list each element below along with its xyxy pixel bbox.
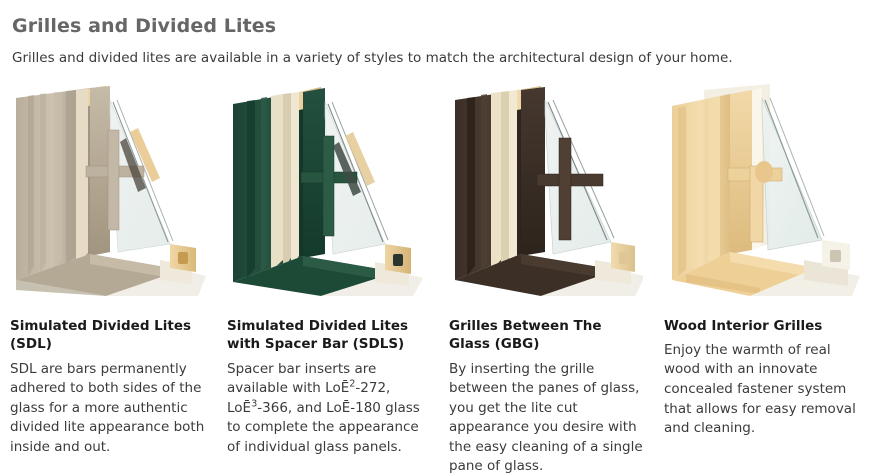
card-title-sdls: Simulated Divided Lites with Spacer Bar … — [227, 318, 427, 354]
card-body-wood-interior: Enjoy the warmth of real wood with an in… — [664, 341, 864, 439]
page-title: Grilles and Divided Lites — [12, 15, 276, 37]
product-card-gbg[interactable]: Grilles Between The Glass (GBG) By inser… — [449, 84, 643, 474]
window-corner-cutaway-brown-icon — [449, 84, 643, 296]
page-intro-text: Grilles and divided lites are available … — [12, 50, 733, 66]
window-corner-cutaway-green-image — [227, 84, 427, 296]
card-title-sdl: Simulated Divided Lites (SDL) — [10, 318, 210, 354]
card-body-sdls: Spacer bar inserts are available with Lo… — [227, 360, 427, 458]
window-corner-cutaway-beige-image — [10, 84, 210, 296]
window-corner-cutaway-green-icon — [227, 84, 427, 296]
window-corner-cutaway-beige-icon — [10, 84, 210, 296]
product-card-sdls[interactable]: Simulated Divided Lites with Spacer Bar … — [227, 84, 427, 457]
window-corner-cutaway-brown-image — [449, 84, 643, 296]
product-card-sdl[interactable]: Simulated Divided Lites (SDL) SDL are ba… — [10, 84, 210, 457]
card-body-sdl: SDL are bars permanently adhered to both… — [10, 360, 210, 458]
product-card-wood-interior[interactable]: Wood Interior Grilles Enjoy the warmth o… — [664, 84, 864, 439]
window-corner-cutaway-wood-image — [664, 84, 864, 296]
window-corner-cutaway-wood-icon — [664, 84, 864, 296]
card-title-wood-interior: Wood Interior Grilles — [664, 318, 864, 336]
card-title-gbg: Grilles Between The Glass (GBG) — [449, 318, 643, 354]
card-body-gbg: By inserting the grille between the pane… — [449, 360, 643, 474]
grilles-and-divided-lites-page: Grilles and Divided Lites Grilles and di… — [0, 0, 870, 474]
